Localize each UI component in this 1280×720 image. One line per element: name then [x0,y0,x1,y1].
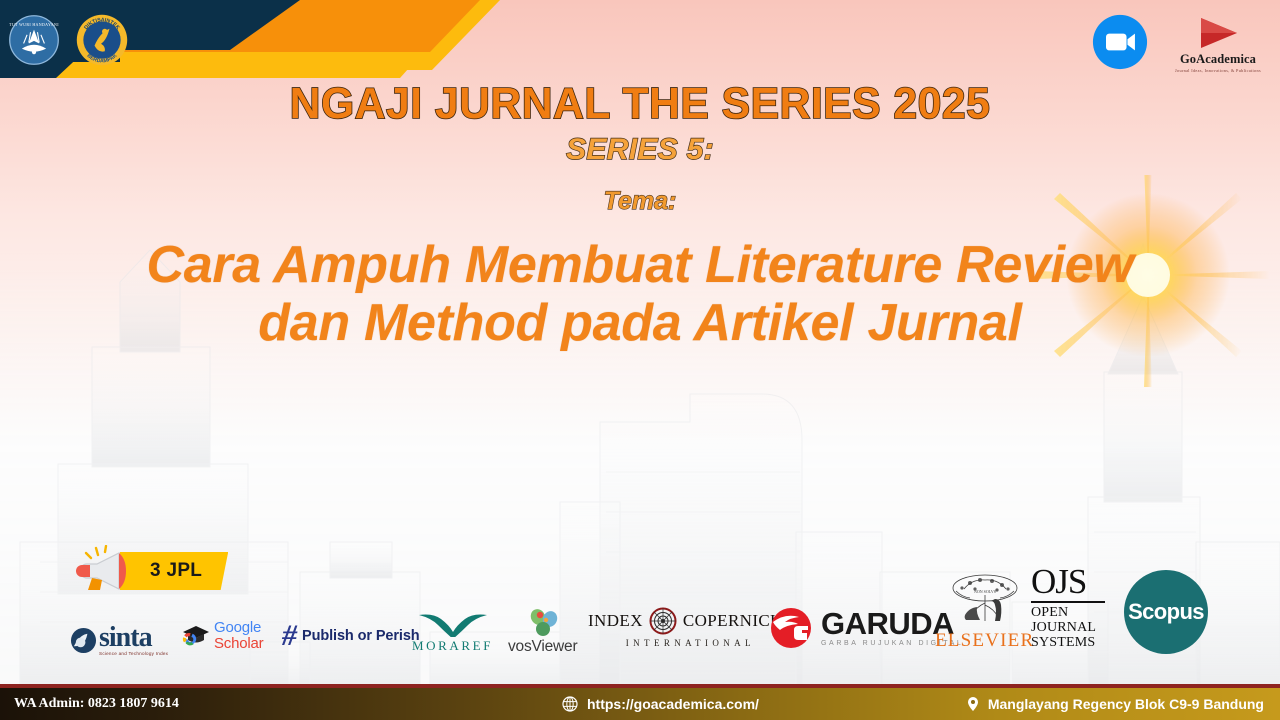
ojs-sub-open: OPEN [1031,605,1068,620]
logo-index-copernicus: INDEX COPERNICUS INTERNATIONAL [588,607,793,648]
logo-moraref: MORAREF [412,611,493,654]
zoom-video-icon[interactable] [1092,14,1148,70]
gs-line2: Scholar [214,635,263,652]
sinta-wordmark: sinta [99,625,168,650]
title-block: NGAJI JURNAL THE SERIES 2025 SERIES 5: T… [0,82,1280,215]
logo-vosviewer: vosViewer [508,607,577,656]
header-color-band [0,0,1280,78]
logo-ojs: OJS OPEN JOURNAL SYSTEMS [1031,566,1105,650]
logo-publish-or-perish: # Publish or Perish [282,624,420,648]
pop-hash-icon: # [282,624,297,648]
megaphone-icon [74,545,132,597]
footer-whatsapp-text: WA Admin: 0823 1807 9614 [14,696,179,712]
logo-google-scholar: Google Scholar [182,620,263,652]
garuda-bird-icon [765,606,817,648]
ojs-divider [1031,601,1105,603]
ojs-sub-systems: SYSTEMS [1031,635,1095,650]
logo-garuda: GARUDA GARBA RUJUKAN DIGITAL [765,606,963,648]
logo-sinta: sinta Science and Technology Index [70,625,168,656]
footer-website-text: https://goacademica.com/ [587,696,759,712]
topic-headline: Cara Ampuh Membuat Literature Review dan… [0,236,1280,352]
svg-text:NON SOLVS: NON SOLVS [974,589,996,594]
headline-line-1: Cara Ampuh Membuat Literature Review [146,236,1133,294]
footer-bar: WA Admin: 0823 1807 9614 https://goacade… [0,684,1280,720]
graduation-cap-icon [182,625,210,647]
vosviewer-wordmark: vosViewer [508,638,577,656]
headline-line-2: dan Method pada Artikel Jurnal [0,294,1280,352]
footer-whatsapp: WA Admin: 0823 1807 9614 [14,696,179,712]
goacademica-name: GoAcademica [1180,52,1256,67]
tema-label: Tema: [0,188,1280,216]
ic-word-index: INDEX [588,611,643,631]
ic-subtitle: INTERNATIONAL [626,638,755,648]
logo-scopus: Scopus [1124,570,1208,654]
footer-address-text: Manglayang Regency Blok C9-9 Bandung [988,696,1264,712]
play-triangle-icon [1197,16,1239,50]
diktisaintek-berdampak-icon: DIKTISAINTEK BERDAMPAK [74,12,130,68]
globe-icon [562,696,578,712]
partner-logo-strip: sinta Science and Technology Index Googl… [0,552,1280,662]
vosviewer-cluster-icon [526,607,560,637]
moraref-swoosh-icon [417,611,489,637]
moraref-wordmark: MORAREF [412,638,493,654]
scopus-wordmark: Scopus [1128,599,1204,625]
footer-website[interactable]: https://goacademica.com/ [562,696,759,712]
ojs-sub-journal: JOURNAL [1031,620,1096,635]
elsevier-wordmark: ELSEVIER [935,630,1034,652]
event-title: NGAJI JURNAL THE SERIES 2025 [19,82,1261,127]
top-right-logos: GoAcademica Journal Ideas, Innovations, … [1092,14,1266,73]
footer-address: Manglayang Regency Blok C9-9 Bandung [965,696,1264,712]
ministry-logos: TUT WURI HANDAYANI DIKTISAINTEK BERDAMPA… [8,12,130,68]
gs-line1: Google [214,619,261,636]
series-label: SERIES 5: [0,133,1280,166]
goacademica-logo: GoAcademica Journal Ideas, Innovations, … [1170,14,1266,73]
ojs-wordmark: OJS [1031,566,1086,598]
sinta-mark-icon [70,627,97,654]
logo-elsevier: NON SOLVS ELSEVIER [935,573,1034,652]
goacademica-tagline: Journal Ideas, Innovations, & Publicatio… [1175,68,1261,74]
svg-text:TUT WURI HANDAYANI: TUT WURI HANDAYANI [9,22,59,27]
pop-wordmark: Publish or Perish [302,628,420,644]
poster-canvas: TUT WURI HANDAYANI DIKTISAINTEK BERDAMPA… [0,0,1280,720]
copernicus-globe-icon [649,607,677,635]
elsevier-tree-icon: NON SOLVS [942,573,1028,629]
tut-wuri-handayani-icon: TUT WURI HANDAYANI [8,14,60,66]
location-pin-icon [965,696,981,712]
sinta-tagline: Science and Technology Index [99,651,168,656]
